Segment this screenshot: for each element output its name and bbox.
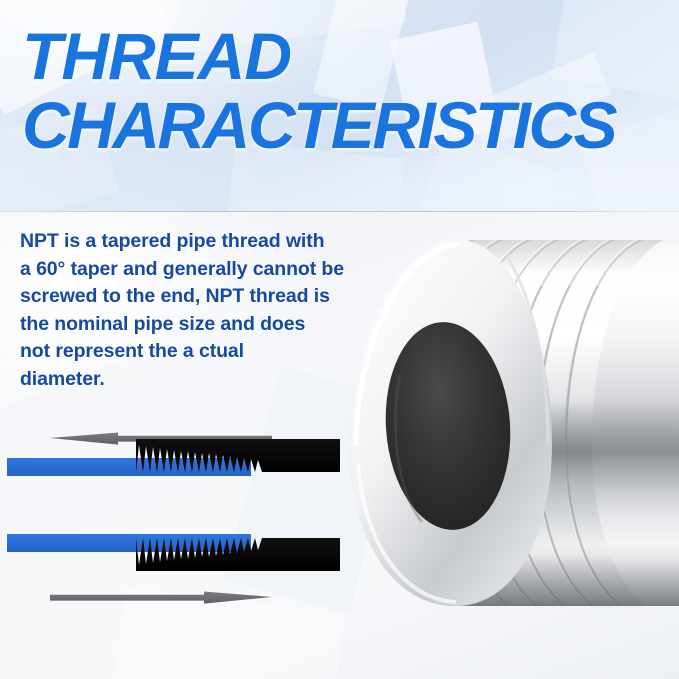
paragraph-line: diameter. <box>20 366 375 394</box>
page-title-line-2: CHARACTERISTICS <box>22 93 672 158</box>
arrow-right-icon <box>50 592 272 604</box>
paragraph-line: not represent the a ctual <box>20 338 375 366</box>
thread-bar-upper <box>7 439 340 476</box>
paragraph-line: NPT is a tapered pipe thread with <box>20 228 375 256</box>
pipe-nipple-photo <box>336 214 679 626</box>
paragraph-line: the nominal pipe size and does <box>20 311 375 339</box>
page-title: THREAD CHARACTERISTICS <box>22 24 672 157</box>
header-banner: THREAD CHARACTERISTICS <box>0 0 679 212</box>
paragraph-line: screwed to the end, NPT thread is <box>20 283 375 311</box>
paragraph-line: a 60° taper and generally cannot be <box>20 256 375 284</box>
description-paragraph: NPT is a tapered pipe thread with a 60° … <box>20 228 375 393</box>
pipe-end-face <box>350 240 552 606</box>
infographic-page: THREAD CHARACTERISTICS NPT is a tapered … <box>0 0 679 679</box>
page-title-line-1: THREAD <box>22 19 291 93</box>
thread-engagement-diagram <box>0 412 350 627</box>
thread-bar-lower <box>7 534 340 571</box>
